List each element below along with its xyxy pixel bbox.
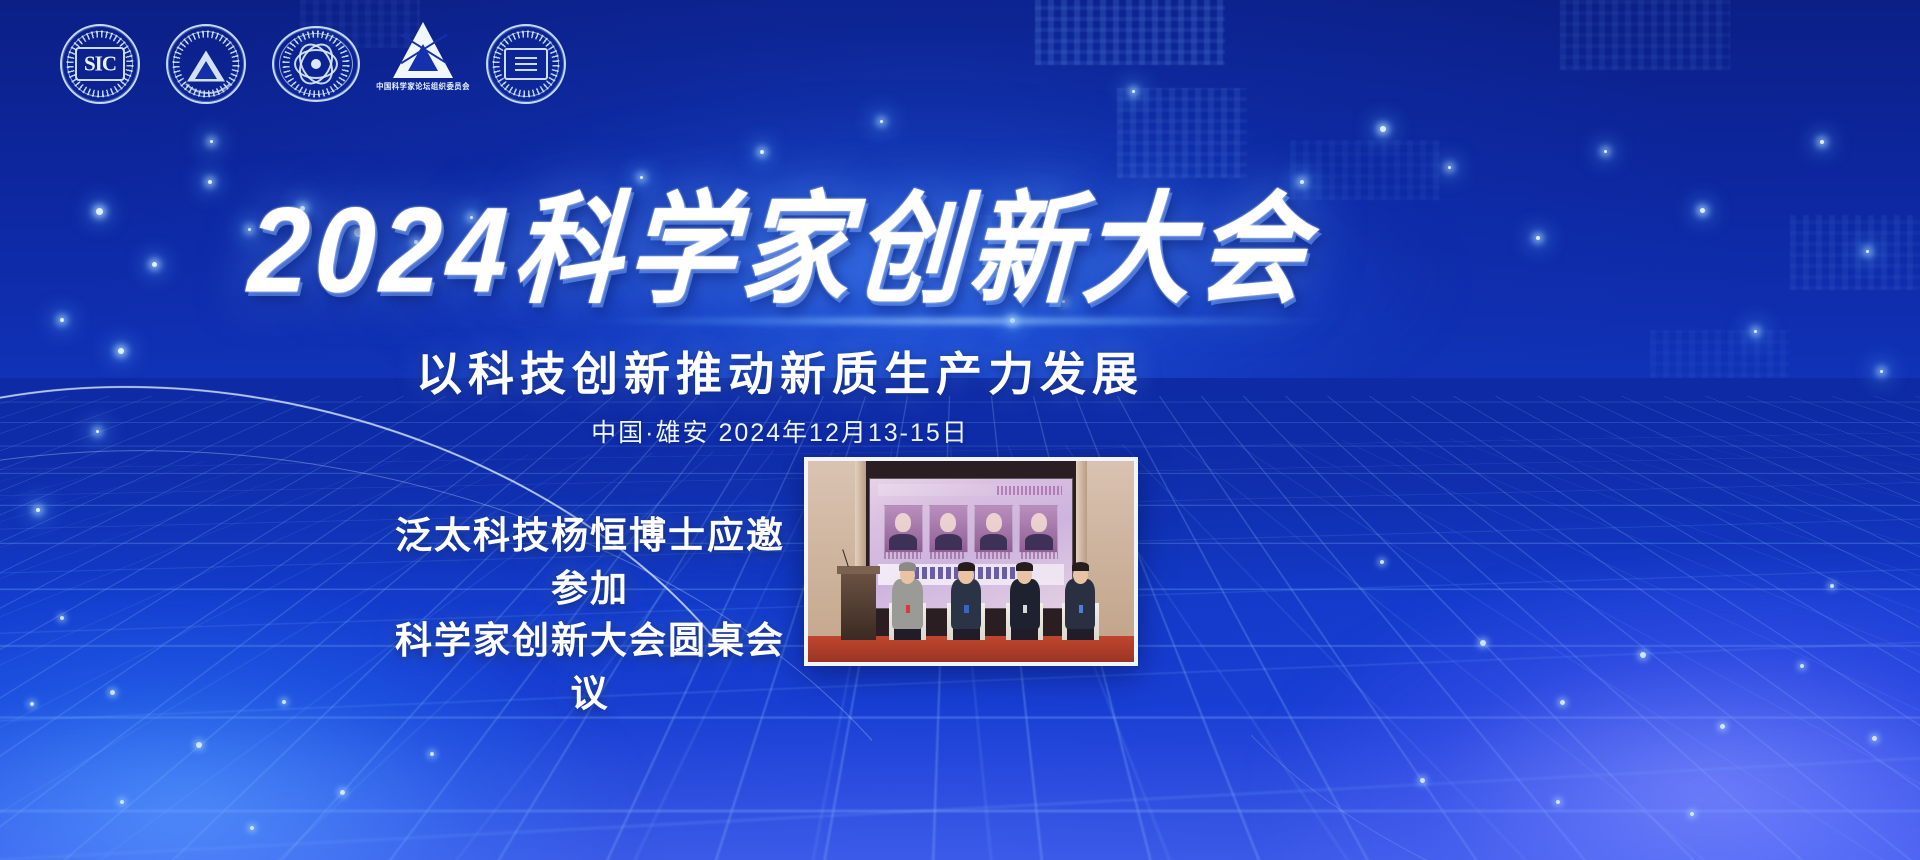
light-particle [1380,126,1386,132]
photo-panelist [945,560,987,640]
sponsor-wordmark: 中国科学家论坛组织委员会 [376,81,470,92]
light-particle [1604,150,1607,153]
title-block: 2024科学家创新大会 [0,196,1560,304]
right-glow [1260,560,1920,860]
photo-panelist [1059,560,1101,640]
mesh-node [1420,778,1425,783]
digital-data-block-icon [1650,330,1790,388]
mesh-node [282,700,286,704]
mesh-node [1556,800,1560,804]
photo-portrait [929,505,968,553]
sponsor-seal-sic: SIC [60,24,140,104]
bottom-glow [0,700,1920,860]
photo-content [808,461,1134,662]
photo-lanyard-badge [1023,605,1027,612]
digital-data-block-icon [1560,0,1730,70]
digital-data-block-icon [1117,88,1247,178]
mesh-node [60,616,64,620]
conference-banner: SIC 中国科学家论坛组织委员会 [0,0,1920,860]
photo-screen-brand [997,486,1062,495]
photo-torso [892,579,923,629]
light-particle [1880,370,1883,373]
mesh-node [1872,736,1877,741]
mesh-node [1690,812,1694,816]
photo-portrait-label [976,552,1013,558]
light-particle [880,120,883,123]
photo-panelist [1004,560,1046,640]
light-particle [640,176,643,179]
light-particle [1754,330,1757,333]
digital-data-block-icon [1035,0,1225,65]
light-particle [1448,166,1451,169]
mesh-node [1560,700,1565,705]
photo-lanyard-badge [1079,605,1083,612]
mesh-node [110,690,115,695]
atom-nucleus-icon [311,59,321,69]
mesh-node [430,752,434,756]
mesh-node [1480,640,1486,646]
mesh-node [30,702,34,706]
sponsor-logo-row: SIC 中国科学家论坛组织委员会 [60,22,566,106]
mesh-node [196,742,202,748]
photo-portrait [974,505,1013,553]
photo-podium [841,572,877,640]
photo-portrait [884,505,923,553]
photo-hair [1072,562,1089,571]
photo-torso [1065,579,1096,629]
photo-torso [1010,579,1041,629]
photo-screen-portraits [884,505,1058,551]
photo-portrait-labels [884,552,1058,558]
photo-hair [1016,562,1033,571]
sponsor-logo-triangle: 中国科学家论坛组织委员会 [386,22,460,106]
light-particle [208,180,212,184]
photo-portrait-label [884,552,921,558]
light-particle [760,150,764,154]
dateline: 中国·雄安 2024年12月13-15日 [0,413,1560,449]
event-caption: 泛太科技杨恒博士应邀参加 科学家创新大会圆桌会议 [380,510,800,720]
mesh-node [1380,560,1384,564]
light-particle [1700,208,1705,213]
light-particle [60,318,64,322]
sponsor-seal-triangle [166,24,246,104]
photo-lanyard-badge [906,605,910,612]
mesh-node [120,800,124,804]
caption-line-2: 科学家创新大会圆桌会议 [380,615,800,720]
light-particle [210,140,213,143]
photo-lanyard-badge [964,605,968,612]
photo-portrait-label [930,552,967,558]
mesh-node [340,790,345,795]
roundtable-panel-photo [804,457,1138,666]
mesh-node [1800,664,1804,668]
light-particle [1866,250,1869,253]
mesh-node [1830,584,1834,588]
caption-line-1: 泛太科技杨恒博士应邀参加 [380,510,800,615]
digital-data-block-icon [1790,215,1920,290]
photo-portrait [1019,505,1058,553]
mesh-node [1640,652,1646,658]
photo-hair [899,562,916,571]
photo-panelist [886,560,928,640]
light-particle [1820,140,1824,144]
photo-podium-top [837,566,879,574]
light-particle [1132,90,1135,93]
photo-hair [958,562,975,571]
title-underglow [580,316,1340,326]
page-title: 2024科学家创新大会 [246,190,1315,311]
sponsor-seal-atom [272,26,360,102]
light-particle [36,508,40,512]
triangle-logo-icon [393,22,453,78]
mesh-node [1720,724,1725,729]
atom-icon [294,49,338,79]
photo-torso [951,579,982,629]
subtitle: 以科技创新推动新质生产力发展 [0,338,1560,404]
photo-portrait-label [1021,552,1058,558]
emblem-icon [504,48,548,80]
seal-mark-label: SIC [84,52,116,77]
sponsor-seal-emblem [486,24,566,104]
mesh-node [250,826,254,830]
